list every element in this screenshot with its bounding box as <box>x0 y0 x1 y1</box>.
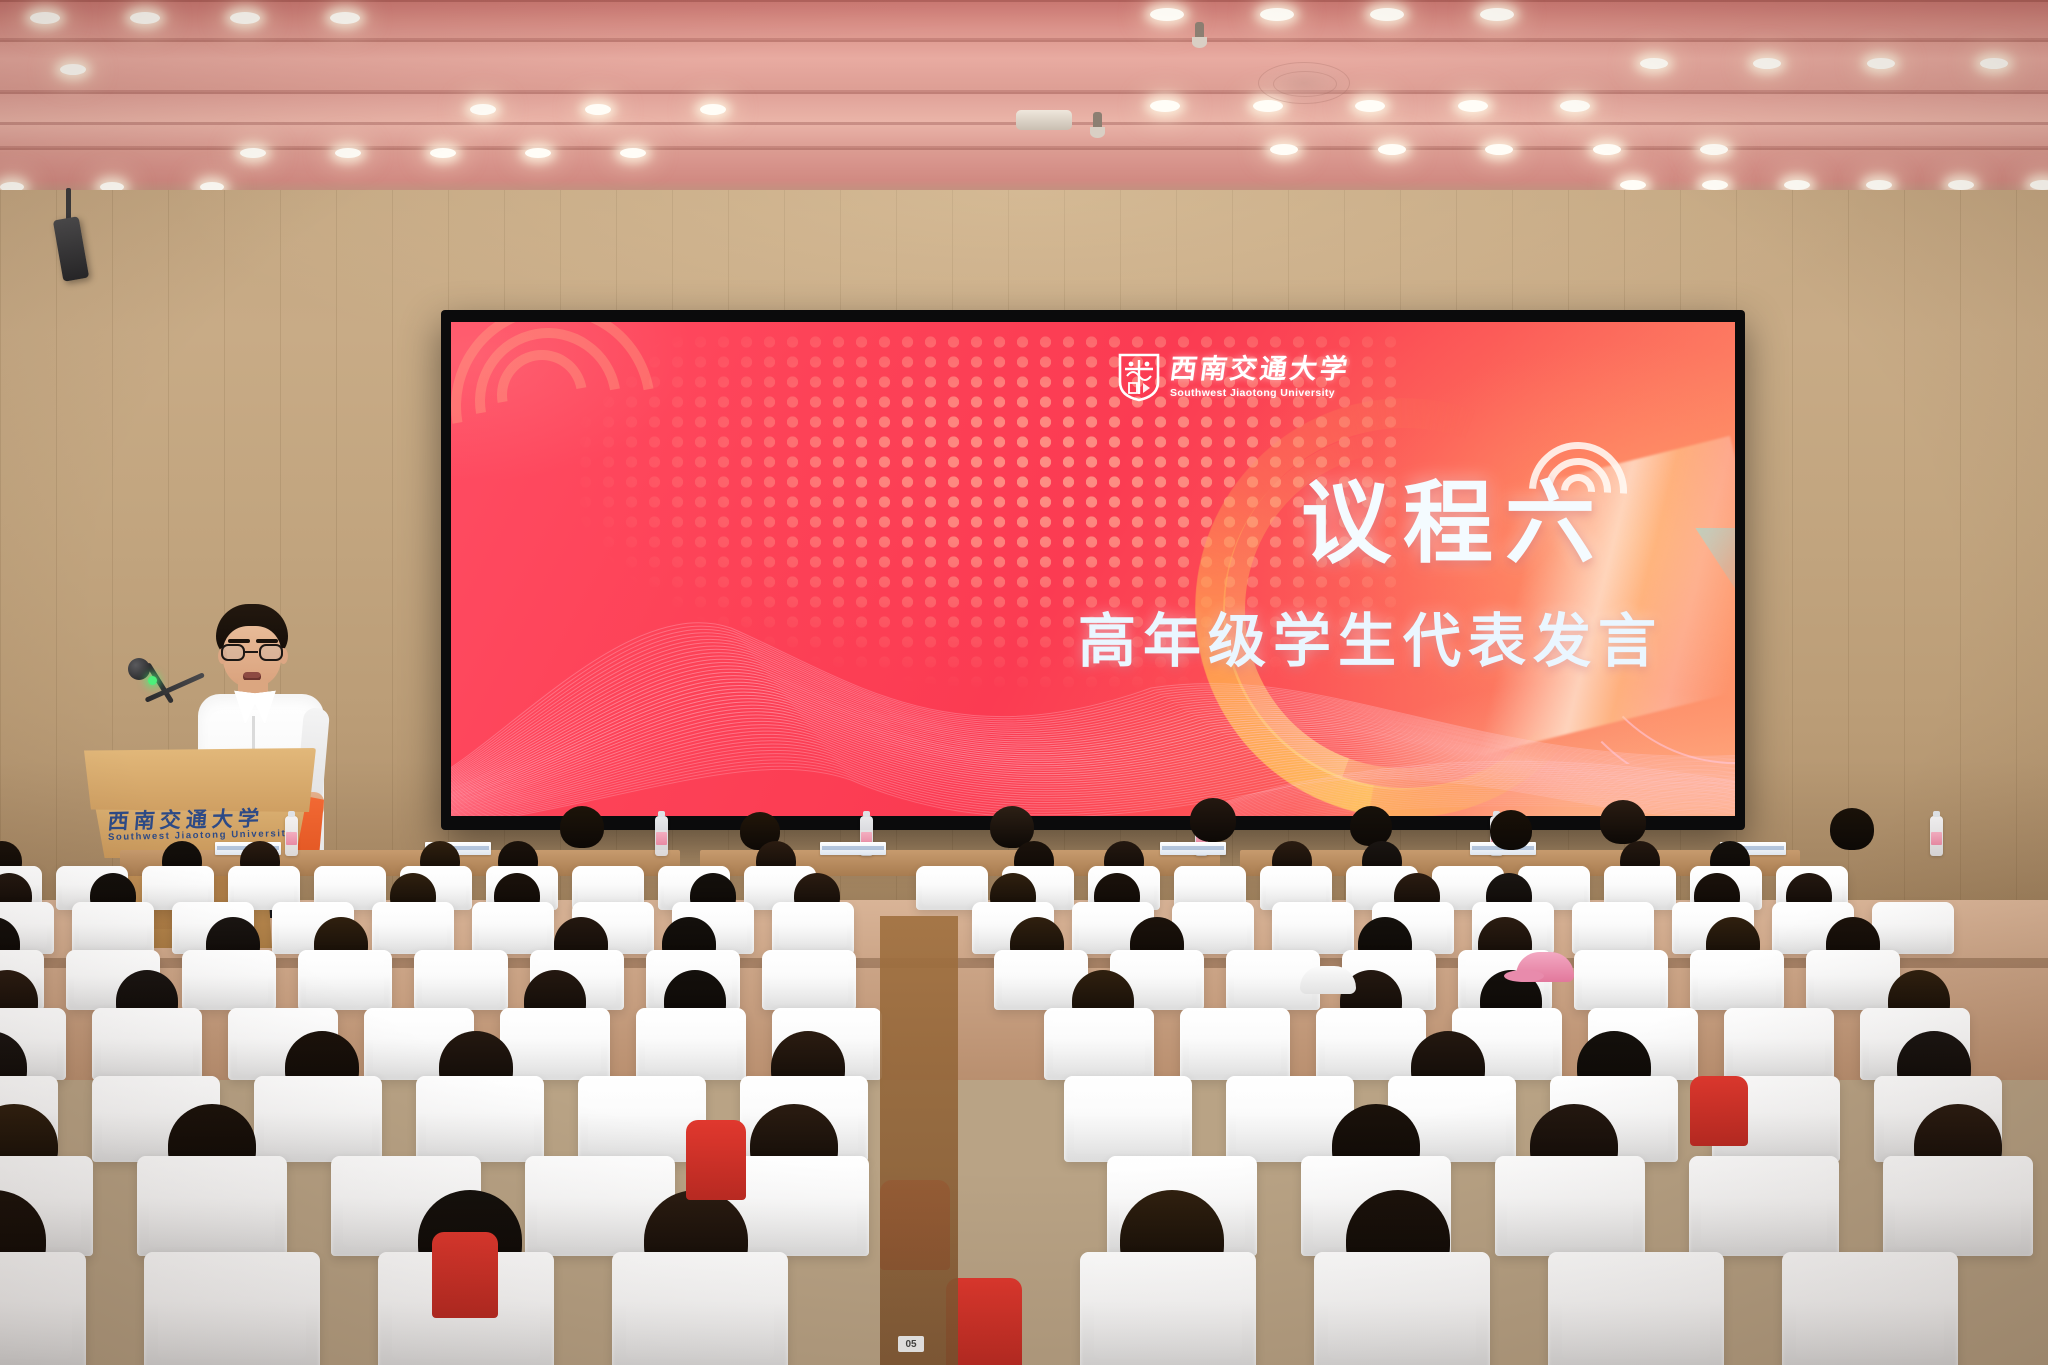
screen-university-logo: 西南交通大学 Southwest Jiaotong University <box>1117 352 1350 402</box>
downlight-icon <box>240 148 266 158</box>
agenda-title: 议程六 <box>1301 450 1607 580</box>
downlight-icon <box>330 12 360 24</box>
pink-cap-icon <box>1516 952 1574 982</box>
led-screen: 西南交通大学 Southwest Jiaotong University 议程六… <box>451 322 1735 816</box>
downlight-icon <box>1270 144 1298 155</box>
downlight-icon <box>1253 100 1283 112</box>
name-card <box>820 842 886 855</box>
audience-chair <box>1782 1252 1958 1365</box>
signal-arcs-decoration <box>497 350 747 540</box>
audience-chair <box>298 950 392 1010</box>
audience-chair <box>92 1008 202 1080</box>
screen-logo-cn: 西南交通大学 <box>1168 356 1352 383</box>
downlight-icon <box>1370 8 1404 21</box>
audience-chair <box>1883 1156 2033 1256</box>
downlight-icon <box>335 148 361 158</box>
downlight-icon <box>1260 8 1294 21</box>
downlight-icon <box>1150 100 1180 112</box>
audience-chair <box>414 950 508 1010</box>
audience-chair <box>1064 1076 1192 1162</box>
downlight-icon <box>525 148 551 158</box>
air-diffuser <box>1258 62 1350 104</box>
university-crest-icon <box>1117 352 1161 402</box>
downlight-icon <box>1378 144 1406 155</box>
sprinkler-head <box>1093 112 1102 132</box>
audience-chair <box>72 902 154 954</box>
downlight-icon <box>1458 100 1488 112</box>
audience-chair <box>1548 1252 1724 1365</box>
audience-chair <box>612 1252 788 1365</box>
microphone-icon <box>128 658 150 680</box>
downlight-icon <box>1980 58 2008 69</box>
name-card <box>1160 842 1226 855</box>
white-cap-icon <box>1300 966 1356 994</box>
microphone-status-light <box>148 676 157 685</box>
sprinkler-head <box>1195 22 1204 42</box>
downlight-icon <box>470 104 496 115</box>
audience-chair <box>1872 902 1954 954</box>
downlight-icon <box>1702 180 1728 190</box>
downlight-icon <box>1485 144 1513 155</box>
audience-chair <box>1724 1008 1834 1080</box>
downlight-icon <box>700 104 726 115</box>
downlight-icon <box>1150 8 1184 21</box>
downlight-icon <box>1355 100 1385 112</box>
audience-chair <box>762 950 856 1010</box>
audience-person <box>686 1120 746 1200</box>
downlight-icon <box>30 12 60 24</box>
audience-person <box>432 1232 498 1318</box>
audience-head <box>1830 808 1874 850</box>
audience-chair <box>182 950 276 1010</box>
audience-chair <box>1806 950 1900 1010</box>
glasses-icon <box>221 644 283 661</box>
downlight-icon <box>1480 8 1514 21</box>
audience-head <box>1490 810 1532 850</box>
audience-head <box>560 806 604 848</box>
audience-person <box>1690 1076 1748 1146</box>
water-bottle-icon <box>655 816 668 856</box>
audience-chair <box>1316 1008 1426 1080</box>
audience-chair <box>1180 1008 1290 1080</box>
downlight-icon <box>620 148 646 158</box>
center-aisle <box>880 916 958 1365</box>
downlight-icon <box>1753 58 1781 69</box>
downlight-icon <box>1866 180 1892 190</box>
water-bottle-icon <box>1930 816 1943 856</box>
downlight-icon <box>1867 58 1895 69</box>
audience-chair <box>416 1076 544 1162</box>
audience-chair <box>144 1252 320 1365</box>
audience-chair <box>1689 1156 1839 1256</box>
ceiling <box>0 0 2048 196</box>
audience-chair <box>137 1156 287 1256</box>
led-screen-frame: 西南交通大学 Southwest Jiaotong University 议程六… <box>441 310 1745 830</box>
audience-chair <box>1172 902 1254 954</box>
audience-chair <box>500 1008 610 1080</box>
audience-chair <box>1044 1008 1154 1080</box>
audience-chair <box>1572 902 1654 954</box>
water-bottle-icon <box>285 816 298 856</box>
audience-chair <box>1690 950 1784 1010</box>
audience-chair <box>472 902 554 954</box>
downlight-icon <box>60 64 86 75</box>
audience-head <box>1600 800 1646 844</box>
downlight-icon <box>430 148 456 158</box>
screen-logo-en: Southwest Jiaotong University <box>1170 388 1350 399</box>
downlight-icon <box>1784 180 1810 190</box>
downlight-icon <box>585 104 611 115</box>
seat-number-label: 05 <box>898 1336 924 1352</box>
downlight-icon <box>130 12 160 24</box>
auditorium-scene: 西南交通大学 Southwest Jiaotong University 议程六… <box>0 0 2048 1365</box>
downlight-icon <box>1593 144 1621 155</box>
audience-chair <box>772 902 854 954</box>
downlight-icon <box>1620 180 1646 190</box>
audience-chair <box>1272 902 1354 954</box>
audience-chair <box>1314 1252 1490 1365</box>
downlight-icon <box>1948 180 1974 190</box>
agenda-subtitle: 高年级学生代表发言 <box>1078 594 1663 678</box>
audience-head <box>1350 806 1392 846</box>
audience-head <box>1190 798 1236 842</box>
downlight-icon <box>1560 100 1590 112</box>
audience-chair <box>1574 950 1668 1010</box>
downlight-icon <box>1640 58 1668 69</box>
audience-chair <box>0 1252 86 1365</box>
audience-chair <box>254 1076 382 1162</box>
downlight-icon <box>1700 144 1728 155</box>
audience-chair <box>1495 1156 1645 1256</box>
audience-chair <box>636 1008 746 1080</box>
smoke-detector <box>1016 110 1072 130</box>
audience-chair <box>1080 1252 1256 1365</box>
audience-seating <box>0 880 2048 1365</box>
audience-chair <box>372 902 454 954</box>
downlight-icon <box>230 12 260 24</box>
